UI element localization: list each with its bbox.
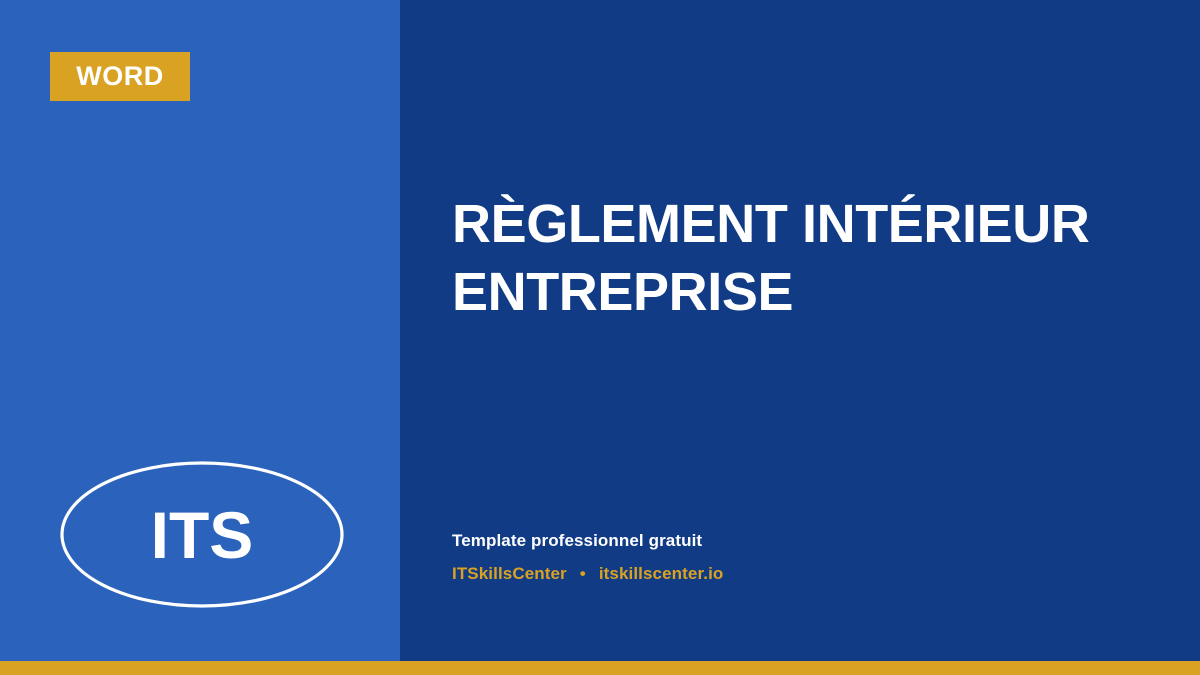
footer-brand-name: ITSkillsCenter (452, 565, 567, 582)
footer-website: itskillscenter.io (599, 565, 724, 582)
slide-canvas: WORD ITS RÈGLEMENT INTÉRIEUR ENTREPRISE … (0, 0, 1200, 675)
word-badge: WORD (50, 52, 190, 101)
footer-brand-line: ITSkillsCenter • itskillscenter.io (452, 565, 1152, 582)
page-title: RÈGLEMENT INTÉRIEUR ENTREPRISE (452, 190, 1152, 326)
footer-block: Template professionnel gratuit ITSkillsC… (452, 532, 1152, 582)
bottom-accent-bar (0, 661, 1200, 675)
bullet-separator-icon: • (580, 565, 586, 582)
word-badge-label: WORD (76, 63, 163, 90)
footer-tagline: Template professionnel gratuit (452, 532, 1152, 549)
its-logo-text: ITS (60, 461, 344, 608)
its-logo: ITS (60, 461, 344, 608)
